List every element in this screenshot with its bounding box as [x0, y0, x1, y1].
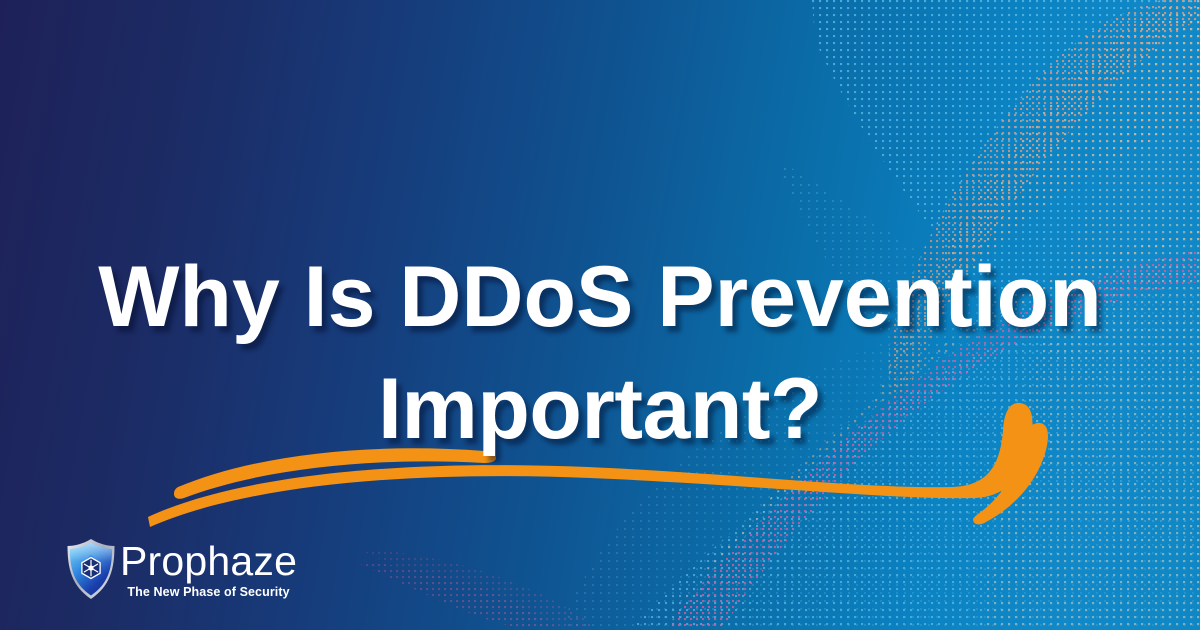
- ddos-prevention-banner: Why Is DDoS Prevention Important?: [0, 0, 1200, 630]
- page-title-line-2: Important?: [0, 353, 1200, 465]
- page-title-line-1: Why Is DDoS Prevention: [0, 241, 1200, 353]
- shield-kubernetes-icon: [66, 538, 116, 600]
- logo-tagline: The New Phase of Security: [120, 584, 297, 600]
- logo-wordmark: Prophaze: [120, 541, 297, 582]
- mesh-band-tail: [356, 550, 600, 630]
- page-title: Why Is DDoS Prevention Important?: [0, 241, 1200, 465]
- prophaze-logo[interactable]: Prophaze The New Phase of Security: [66, 538, 297, 600]
- logo-text-block: Prophaze The New Phase of Security: [120, 539, 297, 600]
